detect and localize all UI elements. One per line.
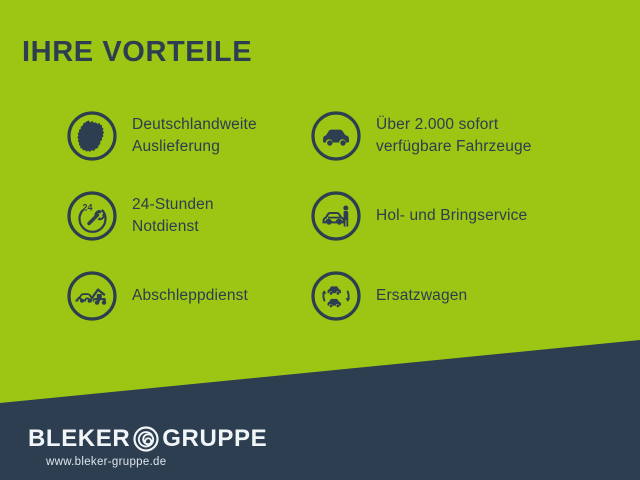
logo-url: www.bleker-gruppe.de [46, 457, 166, 469]
logo-row: BLEKER GRUPPE [28, 425, 267, 453]
24-hour-wrench-icon: 24 [66, 190, 118, 242]
badge-24: 24 [82, 203, 92, 213]
benefit-item: Deutschlandweite Auslieferung [66, 96, 310, 176]
benefit-label: Deutschlandweite Auslieferung [132, 114, 257, 158]
germany-map-icon [66, 110, 118, 162]
benefit-item: 24 24-Stunden Notdienst [66, 176, 310, 256]
benefit-item: Ersatzwagen [310, 256, 622, 336]
benefit-label: Über 2.000 sofort verfügbare Fahrzeuge [376, 114, 532, 158]
benefit-label: 24-Stunden Notdienst [132, 194, 214, 238]
spiral-circle-logo-icon [131, 424, 161, 454]
footer-logo-block: BLEKER GRUPPE www.bleker-gruppe.de [28, 425, 267, 469]
benefit-item: Abschleppdienst [66, 256, 310, 336]
benefit-item: Hol- und Bringservice [310, 176, 622, 256]
benefit-label: Hol- und Bringservice [376, 205, 527, 227]
car-icon [310, 110, 362, 162]
tow-truck-icon [66, 270, 118, 322]
benefits-grid: Deutschlandweite Auslieferung Über 2.000… [66, 96, 622, 336]
two-cars-swap-icon [310, 270, 362, 322]
benefit-label: Abschleppdienst [132, 285, 248, 307]
page-title: IHRE VORTEILE [22, 38, 252, 67]
benefit-item: Über 2.000 sofort verfügbare Fahrzeuge [310, 96, 622, 176]
slide-root: IHRE VORTEILE Deutschlandweite Ausliefer… [0, 0, 640, 480]
logo-word-bleker: BLEKER [28, 427, 130, 451]
car-with-person-icon [310, 190, 362, 242]
benefit-label: Ersatzwagen [376, 285, 467, 307]
logo-word-gruppe: GRUPPE [162, 427, 267, 451]
